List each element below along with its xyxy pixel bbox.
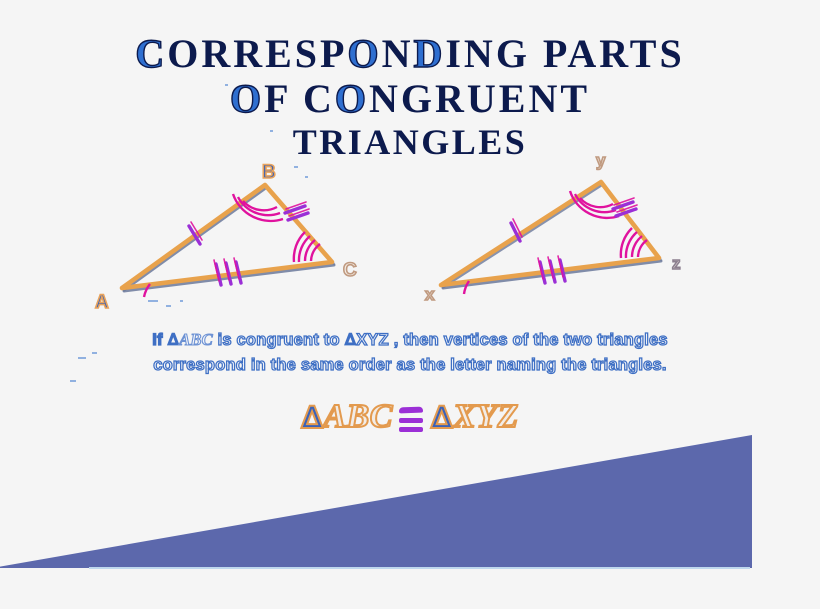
artifact-speck <box>270 130 273 132</box>
delta-icon-right: ∆ <box>431 400 453 436</box>
delta-symbol-2: ∆ <box>345 330 357 349</box>
artifact-speck <box>70 380 76 382</box>
artifact-speck <box>294 166 298 168</box>
formula-right: ∆XYZ <box>431 398 519 435</box>
statement-abc: ABC <box>179 330 213 349</box>
vertex-label-c: C <box>343 261 357 280</box>
vertex-label-a: A <box>95 293 109 312</box>
statement-mid-1: is congruent to <box>213 331 345 349</box>
artifact-speck <box>180 300 183 302</box>
formula-left: ∆ABC <box>301 398 393 435</box>
artifact-speck <box>78 357 86 359</box>
vertex-label-y: y <box>596 152 605 169</box>
artifact-speck <box>166 305 171 307</box>
formula-left-term: ABC <box>323 398 393 435</box>
artifact-speck <box>92 352 97 354</box>
slide-canvas: CORRESPONDING PARTS OF CONGRUENT TRIANGL… <box>0 0 820 609</box>
formula-right-term: XYZ <box>453 398 519 435</box>
artifact-speck <box>225 84 228 86</box>
delta-symbol-1: ∆ <box>168 330 180 349</box>
statement-if: If <box>152 331 167 349</box>
figure-triangle-abc: A B C <box>0 0 420 330</box>
baseline-rule <box>89 567 750 569</box>
vertex-label-x: x <box>425 286 434 303</box>
artifact-speck <box>148 300 158 302</box>
statement-text: If ∆ABC is congruent to ∆XYZ , then vert… <box>0 327 820 378</box>
congruent-icon: ≅ <box>397 403 427 437</box>
statement-line-1: If ∆ABC is congruent to ∆XYZ , then vert… <box>0 327 820 353</box>
angle-arc-z <box>621 228 647 258</box>
statement-line-2: correspond in the same order as the lett… <box>0 353 820 378</box>
vertex-label-b: B <box>262 163 276 182</box>
statement-xyz: XYZ <box>356 331 389 349</box>
artifact-speck <box>305 176 308 178</box>
decorative-wedge <box>0 435 752 568</box>
vertex-label-z: z <box>672 255 681 272</box>
figure-triangle-xyz: x y z <box>400 0 820 330</box>
statement-tail-1: , then vertices of the two triangles <box>389 331 668 349</box>
delta-icon-left: ∆ <box>301 400 323 436</box>
congruence-formula: ∆ABC ≅ ∆XYZ <box>0 398 820 440</box>
